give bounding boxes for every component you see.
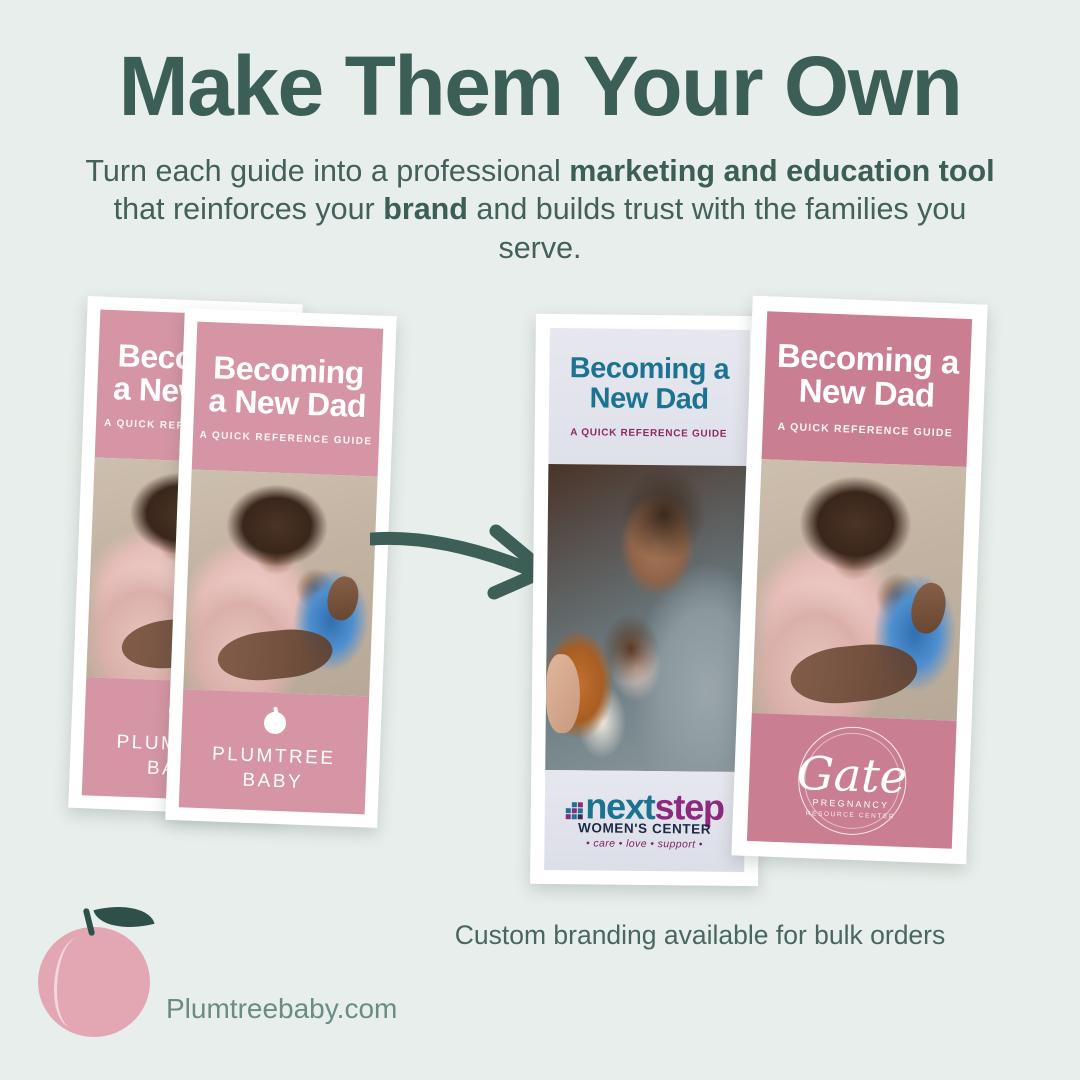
nextstep-logo: next step WOMEN'S CENTER • care • love •… — [565, 791, 724, 850]
logo-word-next: next — [585, 792, 655, 822]
brochure-header: Becoming a New Dad A QUICK REFERENCE GUI… — [548, 328, 749, 466]
photo-arm-shape — [788, 639, 920, 707]
website-url[interactable]: Plumtreebaby.com — [166, 993, 397, 1025]
logo-subline: WOMEN'S CENTER — [578, 820, 711, 836]
brochure-subtitle: A QUICK REFERENCE GUIDE — [570, 427, 727, 440]
peach-icon — [38, 927, 150, 1037]
brochure-subtitle: A QUICK REFERENCE GUIDE — [777, 420, 953, 439]
plumtree-brand-logo[interactable]: Plumtreebaby.com — [38, 905, 398, 1045]
subtitle-bold-2: brand — [383, 192, 468, 226]
brochure-gate[interactable]: Becoming a New Dad A QUICK REFERENCE GUI… — [731, 296, 987, 865]
pixel-dots-icon — [566, 802, 583, 819]
brochure-title: Becoming a New Dad — [194, 350, 382, 422]
brochure-title: Becoming a New Dad — [764, 339, 971, 414]
photo-arm-shape — [216, 626, 336, 686]
nextstep-wordmark: next step — [566, 791, 724, 822]
page-subtitle: Turn each guide into a professional mark… — [70, 152, 1010, 267]
brochure-photo — [752, 459, 967, 721]
peach-icon — [264, 711, 287, 734]
brochure-photo — [545, 464, 748, 772]
photo-hand-shape — [323, 574, 363, 624]
brochure-plumtree-front[interactable]: Becoming a New Dad A QUICK REFERENCE GUI… — [165, 308, 396, 828]
subtitle-part-2: that reinforces your — [114, 192, 384, 226]
brochure-footer: next step WOMEN'S CENTER • care • love •… — [544, 770, 745, 872]
poster-canvas: Make Them Your Own Turn each guide into … — [0, 0, 1080, 1080]
brochure-photo — [183, 469, 377, 696]
brand-name-line2: BABY — [242, 769, 304, 793]
page-title: Make Them Your Own — [0, 44, 1080, 128]
photo-hand-shape — [906, 579, 950, 636]
brochure-title: Becoming a New Dad — [549, 354, 750, 415]
logo-word-step: step — [654, 792, 724, 822]
subtitle-part-1: Turn each guide into a professional — [85, 154, 569, 188]
subtitle-bold-1: marketing and education tool — [569, 154, 994, 188]
brochure-nextstep[interactable]: Becoming a New Dad A QUICK REFERENCE GUI… — [530, 314, 764, 886]
bulk-orders-note: Custom branding available for bulk order… — [400, 920, 1000, 951]
brand-name-line1: PLUMTREE — [212, 743, 336, 770]
photo-hand-shape — [546, 654, 581, 734]
peach-crease — [54, 937, 97, 1027]
gate-logo: Gate PREGNANCY RESOURCE CENTER — [796, 725, 908, 837]
brochure-subtitle: A QUICK REFERENCE GUIDE — [199, 430, 372, 448]
subtitle-part-3: and builds trust with the families you s… — [468, 192, 966, 264]
logo-tagline: • care • love • support • — [586, 837, 703, 850]
